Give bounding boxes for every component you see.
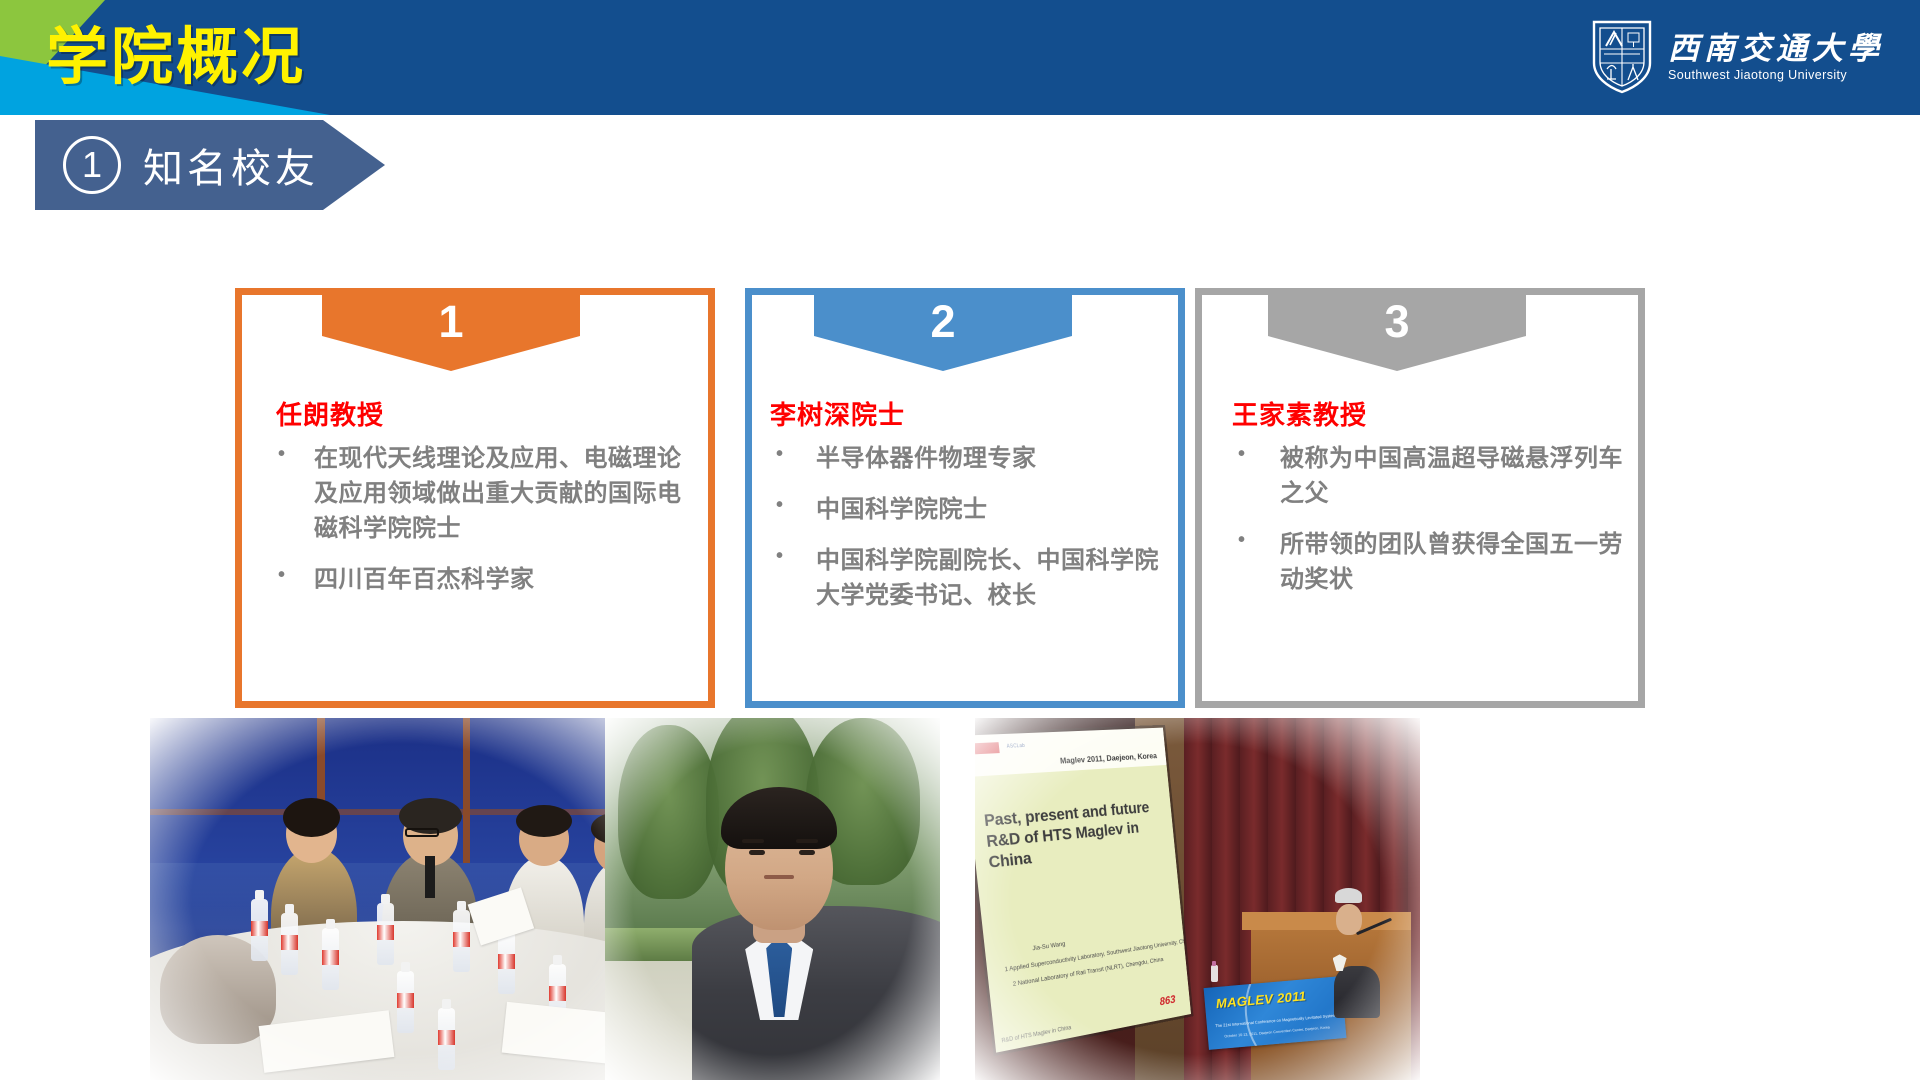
alumnus-name: 李树深院士 [770, 395, 905, 432]
logo-wordmark: 西南交通大學 Southwest Jiaotong University [1668, 32, 1884, 83]
portrait-photo-content [605, 718, 940, 1080]
alumnus-name: 王家素教授 [1232, 395, 1367, 432]
water-bottle [251, 899, 268, 961]
eyebrow [796, 839, 818, 843]
slide: 学院概况 西南交通大學 Southwest Jiaotong Universit [0, 0, 1920, 1080]
meeting-photo [150, 718, 655, 1080]
slide-program-badge: 863 [1159, 993, 1176, 1008]
alumni-cards: 1 任朗教授 在现代天线理论及应用、电磁理论及应用领域做出重大贡献的国际电磁科学… [0, 288, 1920, 708]
water-bottle [322, 928, 339, 990]
slide-author: Jia-Su Wang [1033, 940, 1066, 952]
mouth [764, 875, 794, 879]
speaker-hair [1335, 888, 1362, 903]
section-number-badge: 1 [63, 136, 121, 194]
water-bottle [281, 913, 298, 975]
photo-row: ASCLab Maglev 2011, Daejeon, Korea Past,… [0, 718, 1920, 1080]
alumni-card: 3 王家素教授 被称为中国高温超导磁悬浮列车之父 所带领的团队曾获得全国五一劳动… [1195, 288, 1645, 708]
slide-header: 学院概况 西南交通大學 Southwest Jiaotong Universit [0, 0, 1920, 115]
window-frame [463, 718, 470, 863]
section-banner: 1 知名校友 [35, 120, 385, 210]
water-bottle [377, 903, 394, 965]
alumnus-achievements: 在现代天线理论及应用、电磁理论及应用领域做出重大贡献的国际电磁科学院院士 四川百… [262, 441, 694, 613]
list-item: 半导体器件物理专家 [760, 441, 1164, 476]
shield-emblem-icon [1590, 19, 1654, 95]
alumnus-achievements: 被称为中国高温超导磁悬浮列车之父 所带领的团队曾获得全国五一劳动奖状 [1222, 441, 1624, 613]
water-bottle [498, 932, 515, 994]
list-item: 中国科学院副院长、中国科学院大学党委书记、校长 [760, 543, 1164, 613]
projection-screen: ASCLab Maglev 2011, Daejeon, Korea Past,… [975, 728, 1192, 1053]
slide-title: Past, present and future R&D of HTS Magl… [984, 798, 1167, 874]
eyeglasses [405, 828, 439, 837]
eyebrow [742, 839, 764, 843]
university-logo: 西南交通大學 Southwest Jiaotong University [1590, 14, 1884, 100]
eye [799, 850, 815, 855]
list-item: 中国科学院院士 [760, 492, 1164, 527]
speaker-body [1334, 966, 1380, 1018]
meeting-photo-content [150, 718, 655, 1080]
alumnus-name: 任朗教授 [276, 395, 384, 432]
lecture-photo-content: ASCLab Maglev 2011, Daejeon, Korea Past,… [975, 718, 1420, 1080]
necktie [425, 856, 435, 898]
water-bottle [453, 910, 470, 972]
water-bottle [1211, 965, 1218, 982]
alumni-card: 1 任朗教授 在现代天线理论及应用、电磁理论及应用领域做出重大贡献的国际电磁科学… [235, 288, 715, 708]
slide-org-label: ASCLab [1007, 743, 1026, 750]
list-item: 在现代天线理论及应用、电磁理论及应用领域做出重大贡献的国际电磁科学院院士 [262, 441, 694, 546]
card-number-badge: 1 [322, 295, 580, 371]
water-bottle [438, 1008, 455, 1070]
suit-jacket [692, 906, 940, 1080]
alumnus-achievements: 半导体器件物理专家 中国科学院院士 中国科学院副院长、中国科学院大学党委书记、校… [760, 441, 1164, 629]
water-bottle [397, 971, 414, 1033]
logo-chinese-name: 西南交通大學 [1668, 32, 1884, 67]
card-number-badge: 3 [1268, 295, 1526, 371]
eye [749, 850, 765, 855]
logo-english-name: Southwest Jiaotong University [1668, 68, 1884, 82]
page-title: 学院概况 [46, 8, 306, 108]
alumni-card: 2 李树深院士 半导体器件物理专家 中国科学院院士 中国科学院副院长、中国科学院… [745, 288, 1185, 708]
portrait-photo [605, 718, 940, 1080]
list-item: 四川百年百杰科学家 [262, 562, 694, 597]
lecture-photo: ASCLab Maglev 2011, Daejeon, Korea Past,… [975, 718, 1420, 1080]
list-item: 被称为中国高温超导磁悬浮列车之父 [1222, 441, 1624, 511]
list-item: 所带领的团队曾获得全国五一劳动奖状 [1222, 527, 1624, 597]
card-number-badge: 2 [814, 295, 1072, 371]
tree [618, 725, 719, 899]
section-title: 知名校友 [143, 136, 319, 194]
program-logo [975, 742, 1000, 754]
podium-banner: MAGLEV 2011 The 21st International Confe… [1204, 976, 1347, 1049]
